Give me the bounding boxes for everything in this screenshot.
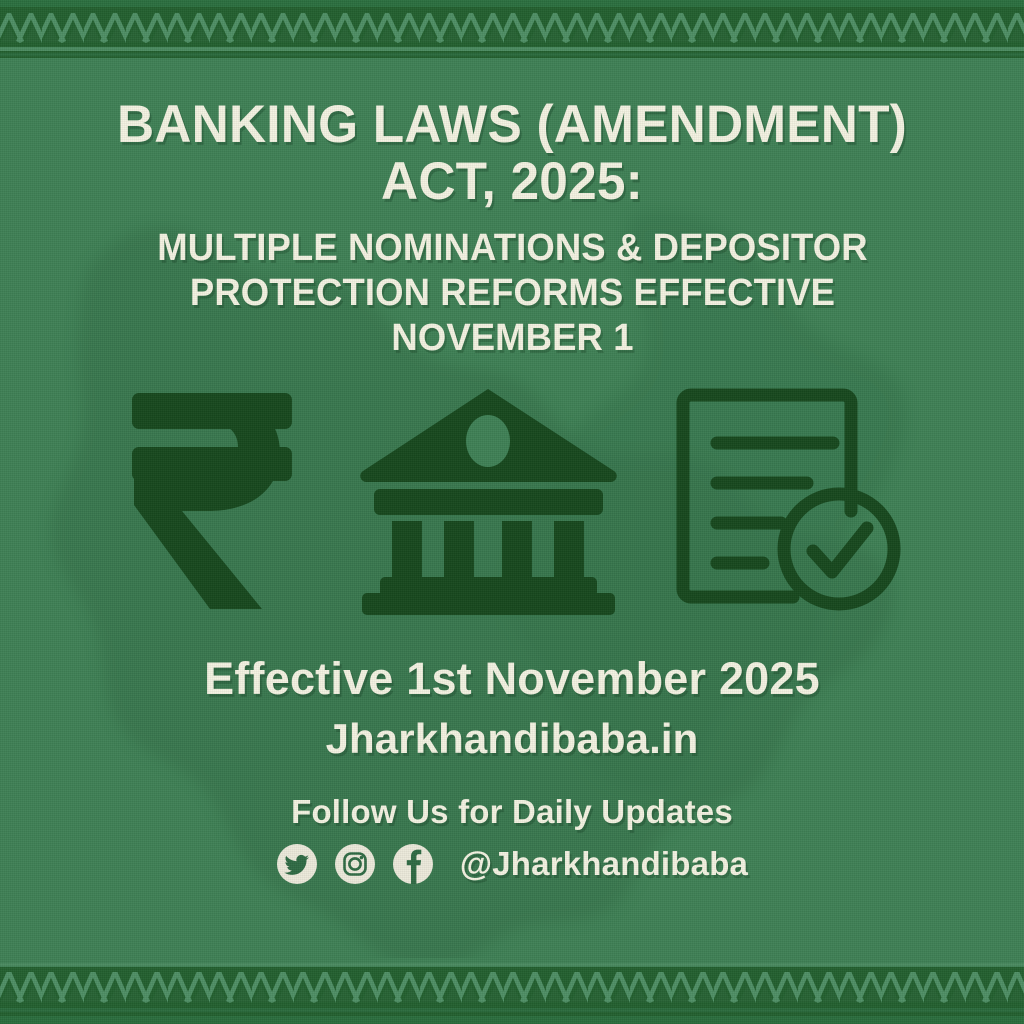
title-line-2: ACT, 2025: [381, 152, 643, 211]
subtitle-line-3: NOVEMBER 1 [391, 317, 633, 359]
subtitle-line-1: MULTIPLE NOMINATIONS & DEPOSITOR [157, 227, 867, 269]
twitter-icon[interactable] [276, 843, 318, 885]
title-line-1: BANKING LAWS (AMENDMENT) [117, 95, 907, 154]
facebook-icon[interactable] [392, 843, 434, 885]
page-subtitle: MULTIPLE NOMINATIONS & DEPOSITOR PROTECT… [78, 226, 947, 360]
effective-date-text: Effective 1st November 2025 [204, 653, 820, 705]
social-links-row: @Jharkhandibaba [276, 843, 748, 885]
poster-canvas: BANKING LAWS (AMENDMENT) ACT, 2025: MULT… [0, 0, 1024, 1024]
page-title: BANKING LAWS (AMENDMENT) ACT, 2025: [76, 96, 949, 210]
poster-content: BANKING LAWS (AMENDMENT) ACT, 2025: MULT… [0, 0, 1024, 1024]
subtitle-line-2: PROTECTION REFORMS EFFECTIVE [189, 272, 834, 314]
illustration-row [82, 383, 942, 619]
document-verified-icon [673, 383, 901, 619]
social-handle-text: @Jharkhandibaba [460, 845, 748, 883]
instagram-icon[interactable] [334, 843, 376, 885]
top-border-pattern [0, 0, 1024, 62]
follow-us-text: Follow Us for Daily Updates [291, 793, 733, 831]
rupee-symbol-icon [124, 383, 304, 619]
bank-building-icon [356, 383, 621, 619]
bottom-border-pattern [0, 958, 1024, 1024]
website-text: Jharkhandibaba.in [326, 715, 699, 763]
